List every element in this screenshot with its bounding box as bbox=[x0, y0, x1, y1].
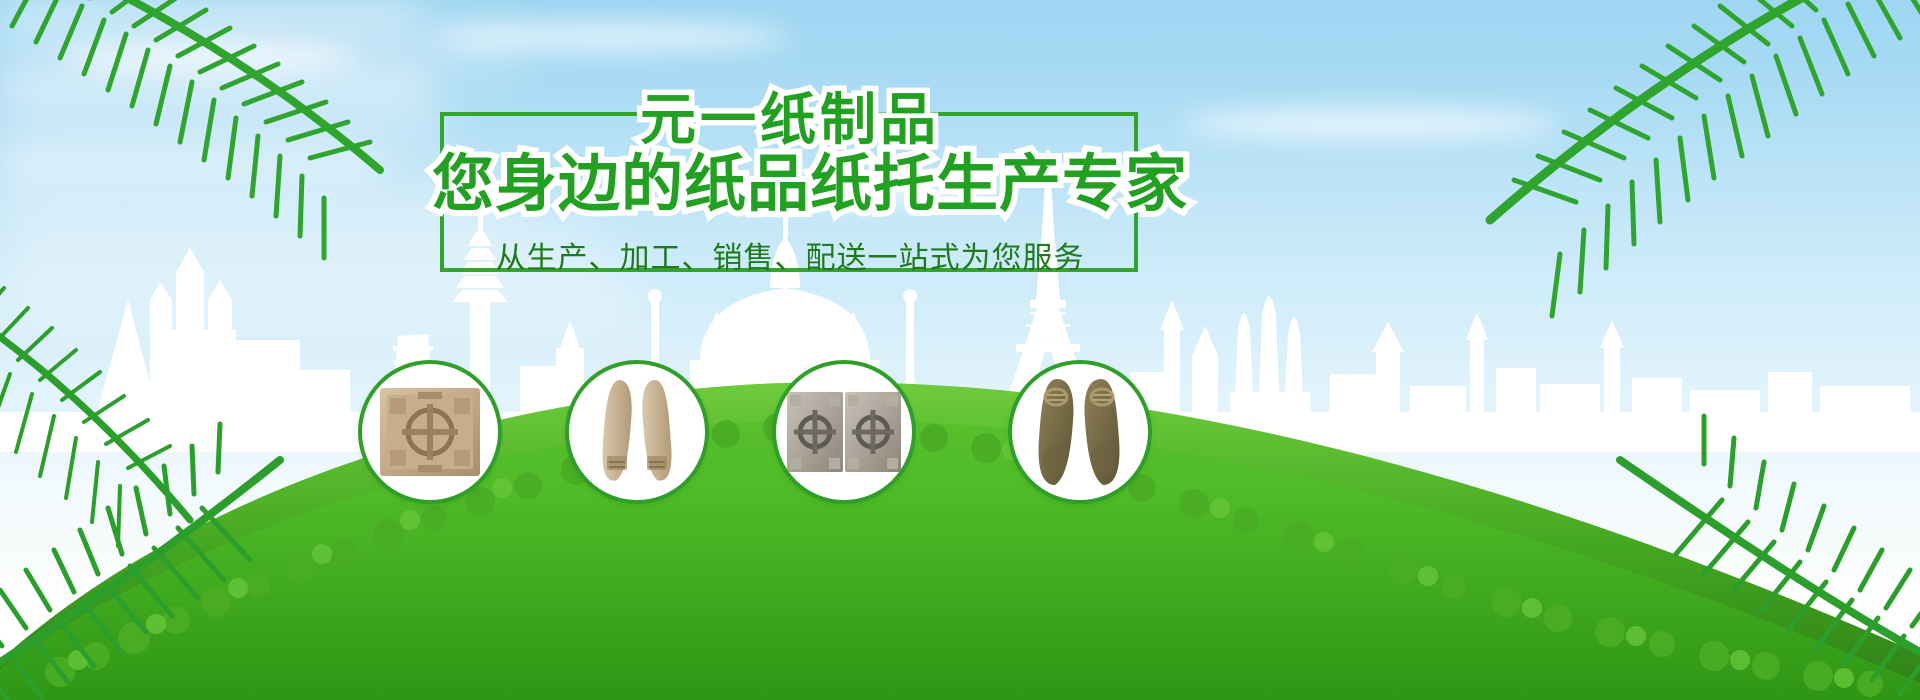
shoe-tree-pair-icon bbox=[1025, 373, 1135, 491]
product-circle-shoe-tree-pair[interactable] bbox=[1008, 360, 1152, 504]
promo-banner: 元一纸制品 您身边的纸品纸托生产专家 从生产、加工、销售、配送一站式为您服务 bbox=[0, 0, 1920, 700]
shoe-insole-pair-icon bbox=[585, 374, 689, 490]
subtitle-text: 从生产、加工、销售、配送一站式为您服务 bbox=[440, 240, 1140, 278]
palm-frond-top-right bbox=[1390, 0, 1920, 360]
headline-line-2: 您身边的纸品纸托生产专家 bbox=[432, 148, 1148, 220]
product-circle-double-pulp-tray[interactable] bbox=[772, 360, 916, 504]
square-pulp-tray-icon bbox=[378, 380, 482, 484]
headline-line-1: 元一纸制品 bbox=[440, 90, 1140, 152]
palm-frond-bottom-left bbox=[0, 400, 360, 700]
palm-frond-bottom-right bbox=[1540, 400, 1920, 700]
product-circle-square-pulp-tray[interactable] bbox=[358, 360, 502, 504]
product-circle-shoe-insole-pair[interactable] bbox=[565, 360, 709, 504]
double-pulp-tray-icon bbox=[786, 388, 902, 476]
